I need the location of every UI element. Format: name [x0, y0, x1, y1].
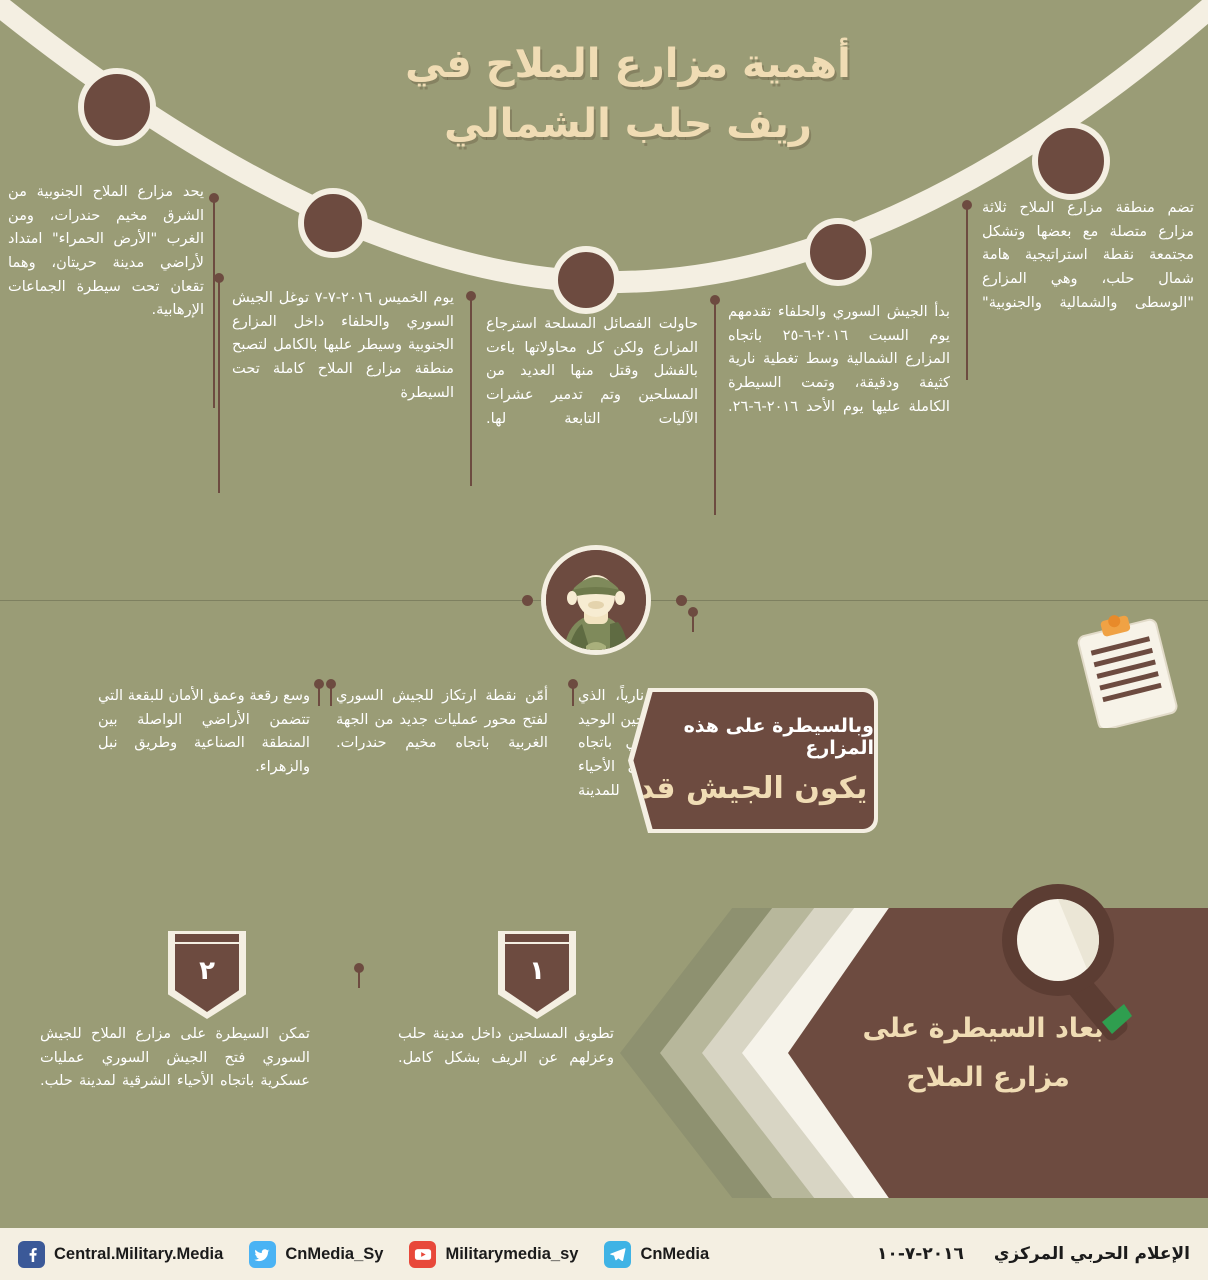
- social-facebook[interactable]: Central.Military.Media: [18, 1241, 223, 1268]
- badge-number-2: ٢: [199, 956, 215, 986]
- twitter-icon: [249, 1241, 276, 1268]
- stem-m3: [318, 684, 320, 706]
- stem-m1: [572, 684, 574, 706]
- title-line-1: أهمية مزارع الملاح في: [405, 41, 851, 87]
- middle-block-3: وسع رقعة وعمق الأمان للبقعة التي تتضمن ا…: [98, 684, 310, 779]
- youtube-icon: [409, 1241, 436, 1268]
- stem-1: [966, 205, 968, 380]
- infographic-page: أهمية مزارع الملاح في ريف حلب الشمالي تض…: [0, 0, 1208, 1280]
- social-twitter[interactable]: CnMedia_Sy: [249, 1241, 383, 1268]
- timeline-block-5: يحد مزارع الملاح الجنوبية من الشرق مخيم …: [8, 180, 204, 322]
- timeline-block-4: يوم الخميس ٢٠١٦-٧-٧ توغل الجيش السوري وا…: [232, 286, 454, 404]
- banner-top-line-1: وبالسيطرة على هذه المزارع: [632, 715, 874, 759]
- timeline-node-5: [1032, 122, 1110, 200]
- stem-2: [714, 300, 716, 515]
- footer-org-name: الإعلام الحربي المركزي: [994, 1244, 1190, 1264]
- badge-number-1: ١: [529, 956, 545, 986]
- telegram-handle: CnMedia: [640, 1245, 709, 1264]
- middle-block-2: أمّن نقطة ارتكاز للجيش السوري لفتح محور …: [336, 684, 548, 755]
- soldier-avatar: [541, 545, 651, 655]
- stem-3: [470, 296, 472, 486]
- divider-dot-left: [522, 595, 533, 606]
- badge-item-1: ١: [498, 931, 576, 1019]
- stem-4: [218, 278, 220, 493]
- timeline-node-4: [804, 218, 872, 286]
- badge-cap-1: [505, 934, 569, 942]
- banner-pennant-body: وبالسيطرة على هذه المزارع يكون الجيش قد: [632, 692, 874, 829]
- facebook-handle: Central.Military.Media: [54, 1245, 223, 1264]
- footer-date: ٢٠١٦-٧-١٠: [877, 1244, 964, 1264]
- timeline-node-2: [298, 188, 368, 258]
- banner-top-line-2: يكون الجيش قد: [639, 771, 868, 806]
- banner-army-conclusion: وبالسيطرة على هذه المزارع يكون الجيش قد: [628, 688, 878, 833]
- magnifier-icon: [986, 878, 1146, 1046]
- stem-item-1: [358, 968, 360, 988]
- stem-m4: [692, 612, 694, 632]
- twitter-handle: CnMedia_Sy: [285, 1245, 383, 1264]
- title-line-2: ريف حلب الشمالي: [368, 94, 888, 154]
- timeline-block-3: حاولت الفصائل المسلحة استرجاع المزارع ول…: [486, 312, 698, 430]
- banner-bottom-line-2: مزارع الملاح: [906, 1062, 1070, 1093]
- facebook-icon: [18, 1241, 45, 1268]
- social-youtube[interactable]: Militarymedia_sy: [409, 1241, 578, 1268]
- item-text-1: تطويق المسلحين داخل مدينة حلب وعزلهم عن …: [398, 1022, 614, 1069]
- social-telegram[interactable]: CnMedia: [604, 1241, 709, 1268]
- item-text-2: تمكن السيطرة على مزارع الملاح للجيش السو…: [40, 1022, 310, 1093]
- clipboard-icon: [1072, 608, 1187, 728]
- footer-bar: Central.Military.Media CnMedia_Sy Milita…: [0, 1228, 1208, 1280]
- youtube-handle: Militarymedia_sy: [445, 1245, 578, 1264]
- timeline-node-3: [552, 246, 620, 314]
- timeline-node-1: [78, 68, 156, 146]
- footer-right: الإعلام الحربي المركزي ٢٠١٦-٧-١٠: [877, 1244, 1190, 1264]
- stem-m2: [330, 684, 332, 706]
- telegram-icon: [604, 1241, 631, 1268]
- timeline-block-2: بدأ الجيش السوري والحلفاء تقدمهم يوم الس…: [728, 300, 950, 418]
- timeline-block-1: تضم منطقة مزارع الملاح ثلاثة مزارع متصلة…: [982, 196, 1194, 314]
- divider-dot-right: [676, 595, 687, 606]
- soldier-icon: [546, 550, 646, 650]
- page-title: أهمية مزارع الملاح في ريف حلب الشمالي: [368, 34, 888, 154]
- badge-item-2: ٢: [168, 931, 246, 1019]
- badge-cap-2: [175, 934, 239, 942]
- stem-5: [213, 198, 215, 408]
